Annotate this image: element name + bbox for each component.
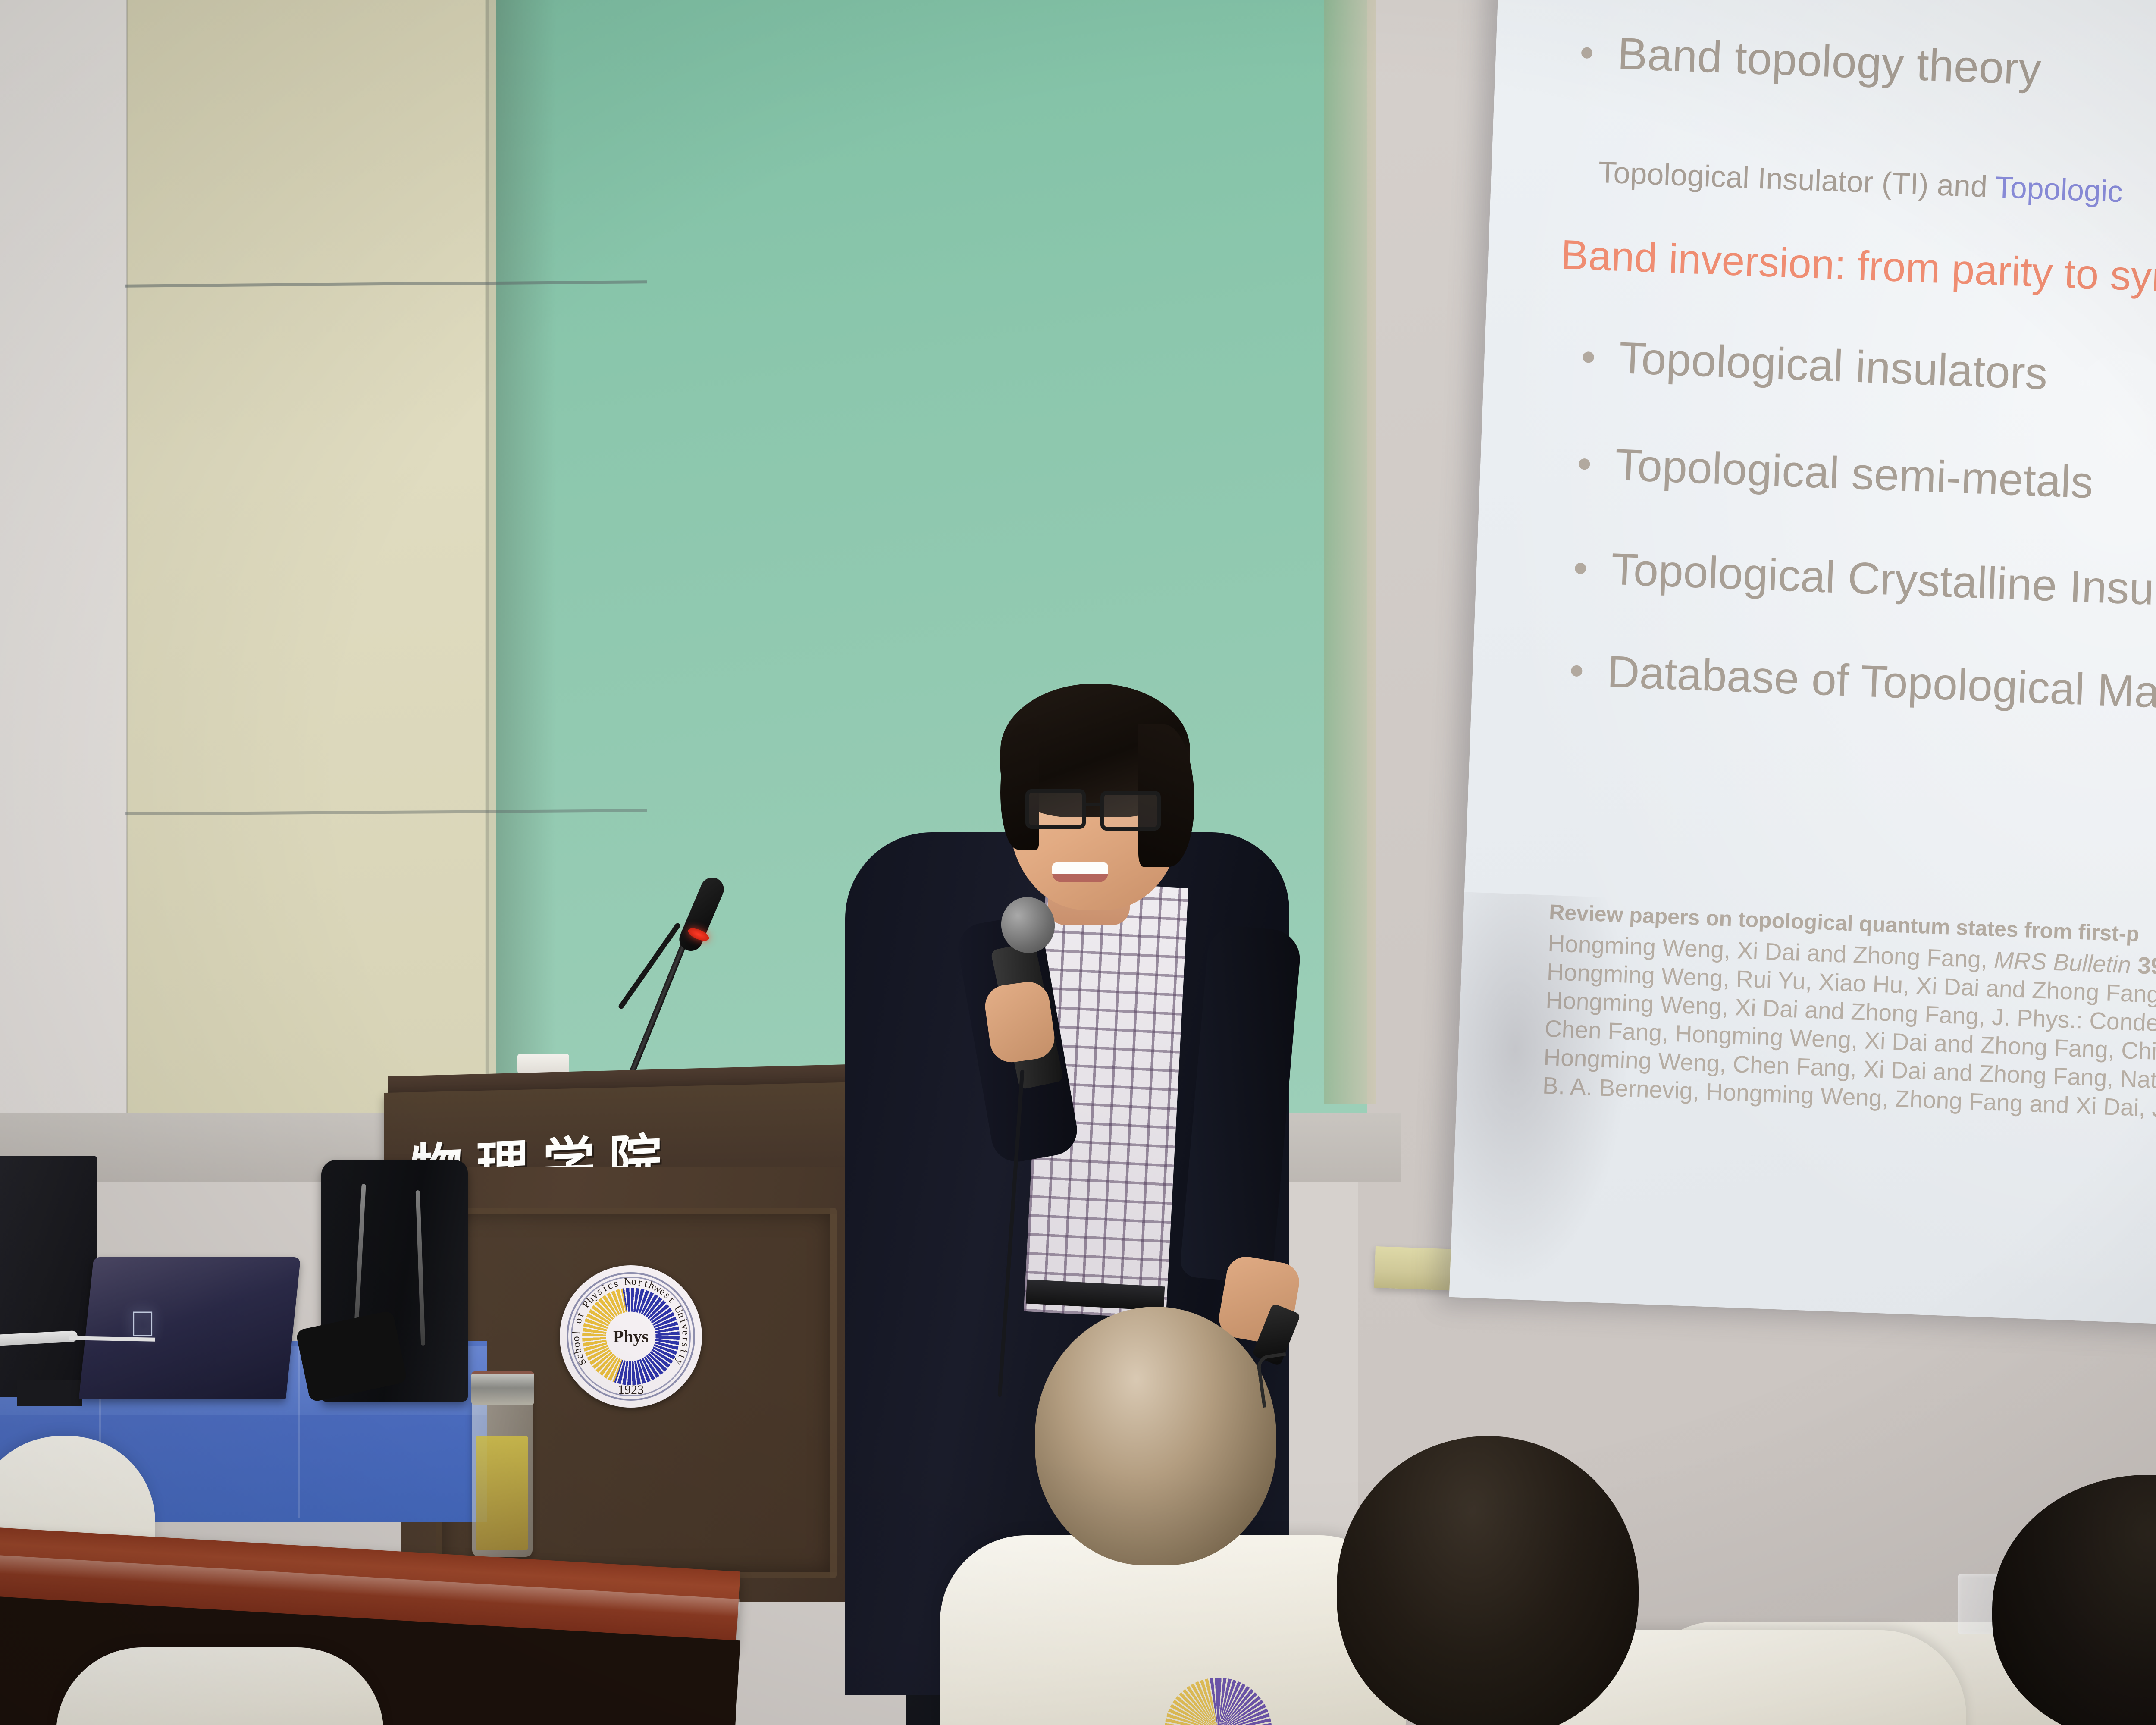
lecture-hall-photo: Outline Band topology theory Topological… (0, 0, 2156, 1725)
seal-founding-year: 1923 (618, 1383, 644, 1397)
audience-head-balding (1035, 1307, 1276, 1565)
eyeglasses-left-lens-icon (1025, 789, 1086, 829)
seal-arc-char: r (637, 1276, 642, 1289)
wall-seam-vertical-right (486, 0, 489, 1121)
seal-arc-char: s (679, 1342, 691, 1348)
bullet-dot-icon (1581, 47, 1593, 59)
audience-head-center (1337, 1436, 1639, 1725)
eyeglasses-right-lens-icon (1100, 791, 1161, 831)
speaker-left-hand (982, 979, 1057, 1065)
green-wall-right-edge (1324, 0, 1376, 1104)
wall-seam-vertical-left (126, 0, 128, 1147)
seal-arc-char: o (570, 1336, 582, 1342)
seal-arc-char: l (570, 1331, 582, 1334)
bullet-dot-icon (1575, 562, 1586, 574)
reference-volume: 39 (2137, 952, 2156, 979)
bullet-dot-icon (1583, 351, 1594, 363)
apple-logo-icon:  (129, 1311, 154, 1338)
seal-arc-char: e (679, 1330, 691, 1335)
seal-arc-char: o (631, 1276, 636, 1288)
subline-blue-text: Topologic (1995, 170, 2123, 208)
speaker-shadow-on-screen (1449, 891, 1633, 1286)
reference-journal: MRS Bulletin (1993, 947, 2138, 979)
school-seal-emblem: School of Physics Northwest University P… (560, 1265, 702, 1408)
green-wall-shadow (496, 0, 556, 1113)
monitor-stand (17, 1380, 82, 1406)
thermos-tea-liquid (476, 1436, 528, 1550)
bullet-dot-icon (1571, 665, 1583, 677)
projection-screen: Outline Band topology theory Topological… (1449, 0, 2156, 1341)
seal-center-text: Phys (613, 1327, 649, 1347)
audience-chair-cover-front (56, 1647, 384, 1725)
macbook-laptop[interactable] (79, 1257, 301, 1399)
seal-arc-char: i (677, 1348, 689, 1354)
speaker-mouth (1052, 862, 1108, 882)
eyeglasses-bridge (1084, 803, 1103, 806)
bullet-dot-icon (1579, 458, 1590, 470)
seal-center: Phys (606, 1312, 656, 1361)
left-white-wall-panel (0, 0, 129, 1164)
seal-arc-char: r (680, 1337, 691, 1341)
cream-wall-panel-a (127, 0, 489, 1147)
seal-arc-char: v (678, 1323, 691, 1330)
thermos-lid (471, 1371, 534, 1405)
tablecloth-fold (298, 1345, 300, 1518)
